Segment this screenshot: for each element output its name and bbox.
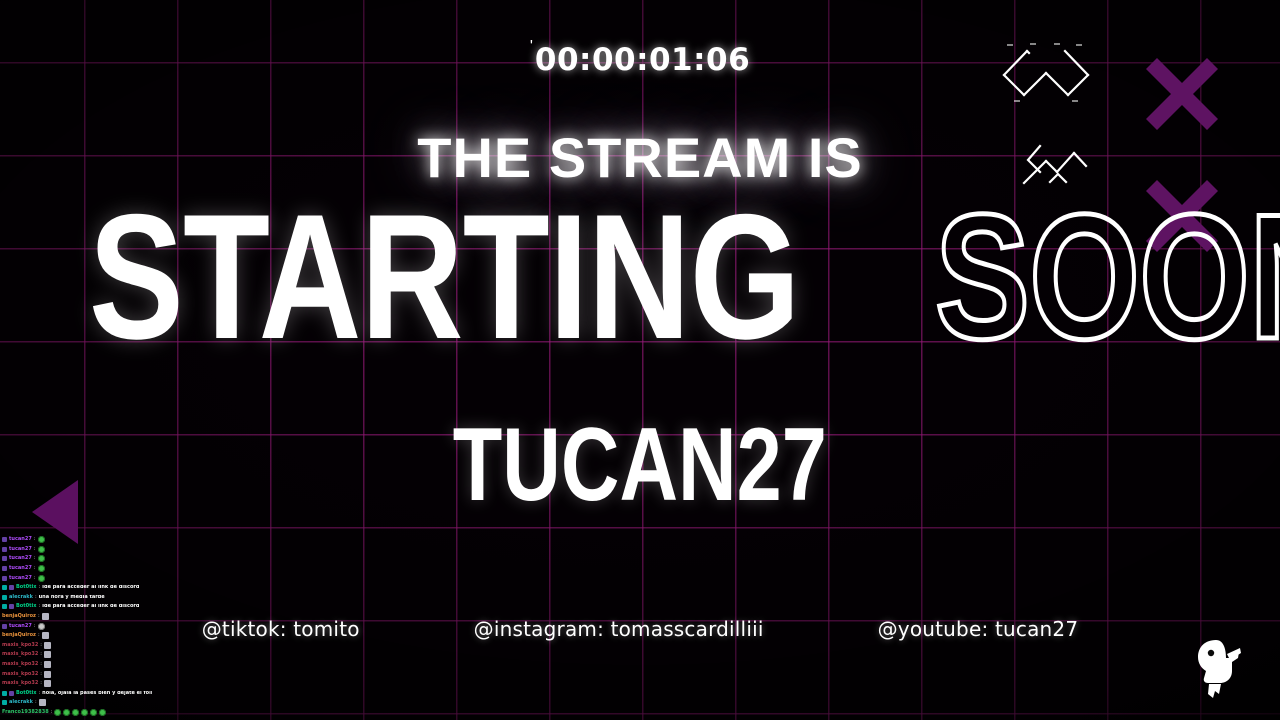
chat-username[interactable]: tucan27 — [9, 624, 32, 629]
chat-emote-icon — [42, 632, 49, 639]
chat-colon: : — [38, 604, 40, 609]
chat-colon: : — [40, 672, 42, 677]
streamer-nickname: TUCAN27 — [453, 413, 827, 517]
chat-line: Franco19382838: — [0, 708, 152, 718]
chat-username[interactable]: Bot0tix — [16, 604, 36, 609]
chat-colon: : — [51, 710, 53, 715]
chat-username[interactable]: maxis_kpo32 — [2, 662, 38, 667]
chat-badge-sub-icon — [2, 537, 7, 542]
streamer-nickname-wrap: TUCAN27 — [0, 361, 1280, 517]
chat-emote-group — [39, 699, 46, 706]
chat-emote-icon — [90, 709, 97, 716]
chat-line: tucan27: — [0, 621, 152, 631]
chat-badge-sub-icon — [9, 585, 14, 590]
chat-username[interactable]: benjaQuiroz — [2, 614, 36, 619]
chat-emote-group — [54, 709, 107, 716]
chat-emote-group — [42, 613, 49, 620]
chat-emote-group — [44, 661, 51, 668]
chat-emote-group — [44, 680, 51, 687]
chat-line: tucan27: — [0, 545, 152, 555]
chat-line: benjaQuiroz: — [0, 631, 152, 641]
chat-username[interactable]: tucan27 — [9, 566, 32, 571]
chat-emote-icon — [99, 709, 106, 716]
chat-emote-icon — [38, 546, 45, 553]
chat-username[interactable]: alecrakk — [9, 700, 33, 705]
chat-emote-group — [38, 565, 46, 572]
chat-line: alecrakk:una hora y media tarde — [0, 593, 152, 603]
chat-line: maxis_kpo32: — [0, 660, 152, 670]
chat-line: Bot0tix:hola, ojala la pases bien y deja… — [0, 689, 152, 699]
chat-colon: : — [34, 537, 36, 542]
chat-line: Bot0tix:Ide para acceder al link de disc… — [0, 583, 152, 593]
chat-badge-mod-icon — [2, 691, 7, 696]
chat-badge-mod-icon — [2, 595, 7, 600]
chat-overlay[interactable]: tucan27:tucan27:tucan27:tucan27:tucan27:… — [0, 535, 152, 717]
chat-emote-group — [38, 623, 46, 630]
chat-username[interactable]: alecrakk — [9, 595, 33, 600]
chat-badge-sub-icon — [2, 624, 7, 629]
chat-emote-icon — [44, 661, 51, 668]
chat-badge-sub-icon — [2, 547, 7, 552]
chat-emote-group — [44, 671, 51, 678]
chat-badge-sub-icon — [2, 556, 7, 561]
chat-emote-icon — [63, 709, 70, 716]
chat-username[interactable]: benjaQuiroz — [2, 633, 36, 638]
chat-line: Bot0tix:Ide para acceder al link de disc… — [0, 602, 152, 612]
chat-emote-group — [38, 536, 46, 543]
chat-emote-icon — [44, 680, 51, 687]
headline-word-starting: STARTING — [89, 192, 800, 361]
chat-emote-icon — [44, 651, 51, 658]
chat-emote-icon — [44, 642, 51, 649]
chat-line: tucan27: — [0, 573, 152, 583]
chat-username[interactable]: Bot0tix — [16, 585, 36, 590]
chat-colon: : — [34, 556, 36, 561]
chat-emote-group — [38, 546, 46, 553]
stream-starting-soon-overlay: '00:00:01:06 THE STREAM IS STARTINGSOON … — [0, 0, 1280, 720]
chat-badge-sub-icon — [2, 576, 7, 581]
chat-message: una hora y media tarde — [39, 595, 105, 600]
chat-username[interactable]: maxis_kpo32 — [2, 681, 38, 686]
chat-badge-sub-icon — [9, 604, 14, 609]
chat-emote-icon — [38, 565, 45, 572]
chat-colon: : — [35, 595, 37, 600]
chat-username[interactable]: maxis_kpo32 — [2, 652, 38, 657]
chat-colon: : — [34, 566, 36, 571]
chat-username[interactable]: Franco19382838 — [2, 710, 49, 715]
chat-colon: : — [38, 691, 40, 696]
chat-colon: : — [40, 643, 42, 648]
stream-timer: '00:00:01:06 — [0, 42, 1280, 78]
chat-line: maxis_kpo32: — [0, 669, 152, 679]
chat-line: benjaQuiroz: — [0, 612, 152, 622]
chat-emote-icon — [44, 671, 51, 678]
chat-badge-mod-icon — [2, 585, 7, 590]
headline-main: STARTINGSOON — [0, 192, 1280, 361]
chat-emote-icon — [81, 709, 88, 716]
chat-colon: : — [38, 585, 40, 590]
chat-line: maxis_kpo32: — [0, 650, 152, 660]
chat-badge-mod-icon — [2, 700, 7, 705]
chat-emote-icon — [39, 699, 46, 706]
chat-username[interactable]: tucan27 — [9, 537, 32, 542]
chat-emote-group — [38, 575, 46, 582]
chat-message: Ide para acceder al link de discord — [42, 604, 139, 609]
chat-username[interactable]: tucan27 — [9, 556, 32, 561]
chat-emote-icon — [72, 709, 79, 716]
chat-username[interactable]: tucan27 — [9, 576, 32, 581]
headline-word-soon: SOON — [935, 192, 1280, 361]
chat-line: tucan27: — [0, 535, 152, 545]
timer-value: 00:00:01:06 — [535, 42, 750, 78]
chat-line: tucan27: — [0, 554, 152, 564]
chat-emote-icon — [38, 575, 45, 582]
chat-emote-icon — [38, 555, 45, 562]
chat-line: alecrakk: — [0, 698, 152, 708]
chat-emote-icon — [54, 709, 61, 716]
chat-badge-mod-icon — [2, 604, 7, 609]
chat-emote-group — [44, 651, 51, 658]
chat-emote-icon — [38, 623, 45, 630]
chat-line: tucan27: — [0, 564, 152, 574]
chat-message: hola, ojala la pases bien y dejate el fo… — [42, 691, 152, 696]
chat-line: maxis_kpo32: — [0, 679, 152, 689]
chat-emote-icon — [38, 536, 45, 543]
chat-emote-group — [38, 555, 46, 562]
chat-colon: : — [40, 681, 42, 686]
chat-colon: : — [40, 662, 42, 667]
chat-username[interactable]: tucan27 — [9, 547, 32, 552]
chat-colon: : — [34, 624, 36, 629]
chat-colon: : — [38, 614, 40, 619]
chat-username[interactable]: maxis_kpo32 — [2, 672, 38, 677]
chat-emote-group — [44, 642, 51, 649]
chat-colon: : — [34, 547, 36, 552]
chat-colon: : — [35, 700, 37, 705]
chat-emote-icon — [42, 613, 49, 620]
chat-badge-sub-icon — [2, 566, 7, 571]
chat-emote-group — [42, 632, 49, 639]
chat-colon: : — [38, 633, 40, 638]
chat-colon: : — [40, 652, 42, 657]
chat-username[interactable]: maxis_kpo32 — [2, 643, 38, 648]
chat-username[interactable]: Bot0tix — [16, 691, 36, 696]
headline-block: THE STREAM IS STARTINGSOON TUCAN27 — [0, 130, 1280, 517]
toucan-logo-icon — [1186, 634, 1242, 704]
timer-tick-mark: ' — [530, 38, 533, 56]
chat-message: Ide para acceder al link de discord — [42, 585, 139, 590]
chat-line: maxis_kpo32: — [0, 641, 152, 651]
chat-badge-sub-icon — [9, 691, 14, 696]
chat-colon: : — [34, 576, 36, 581]
